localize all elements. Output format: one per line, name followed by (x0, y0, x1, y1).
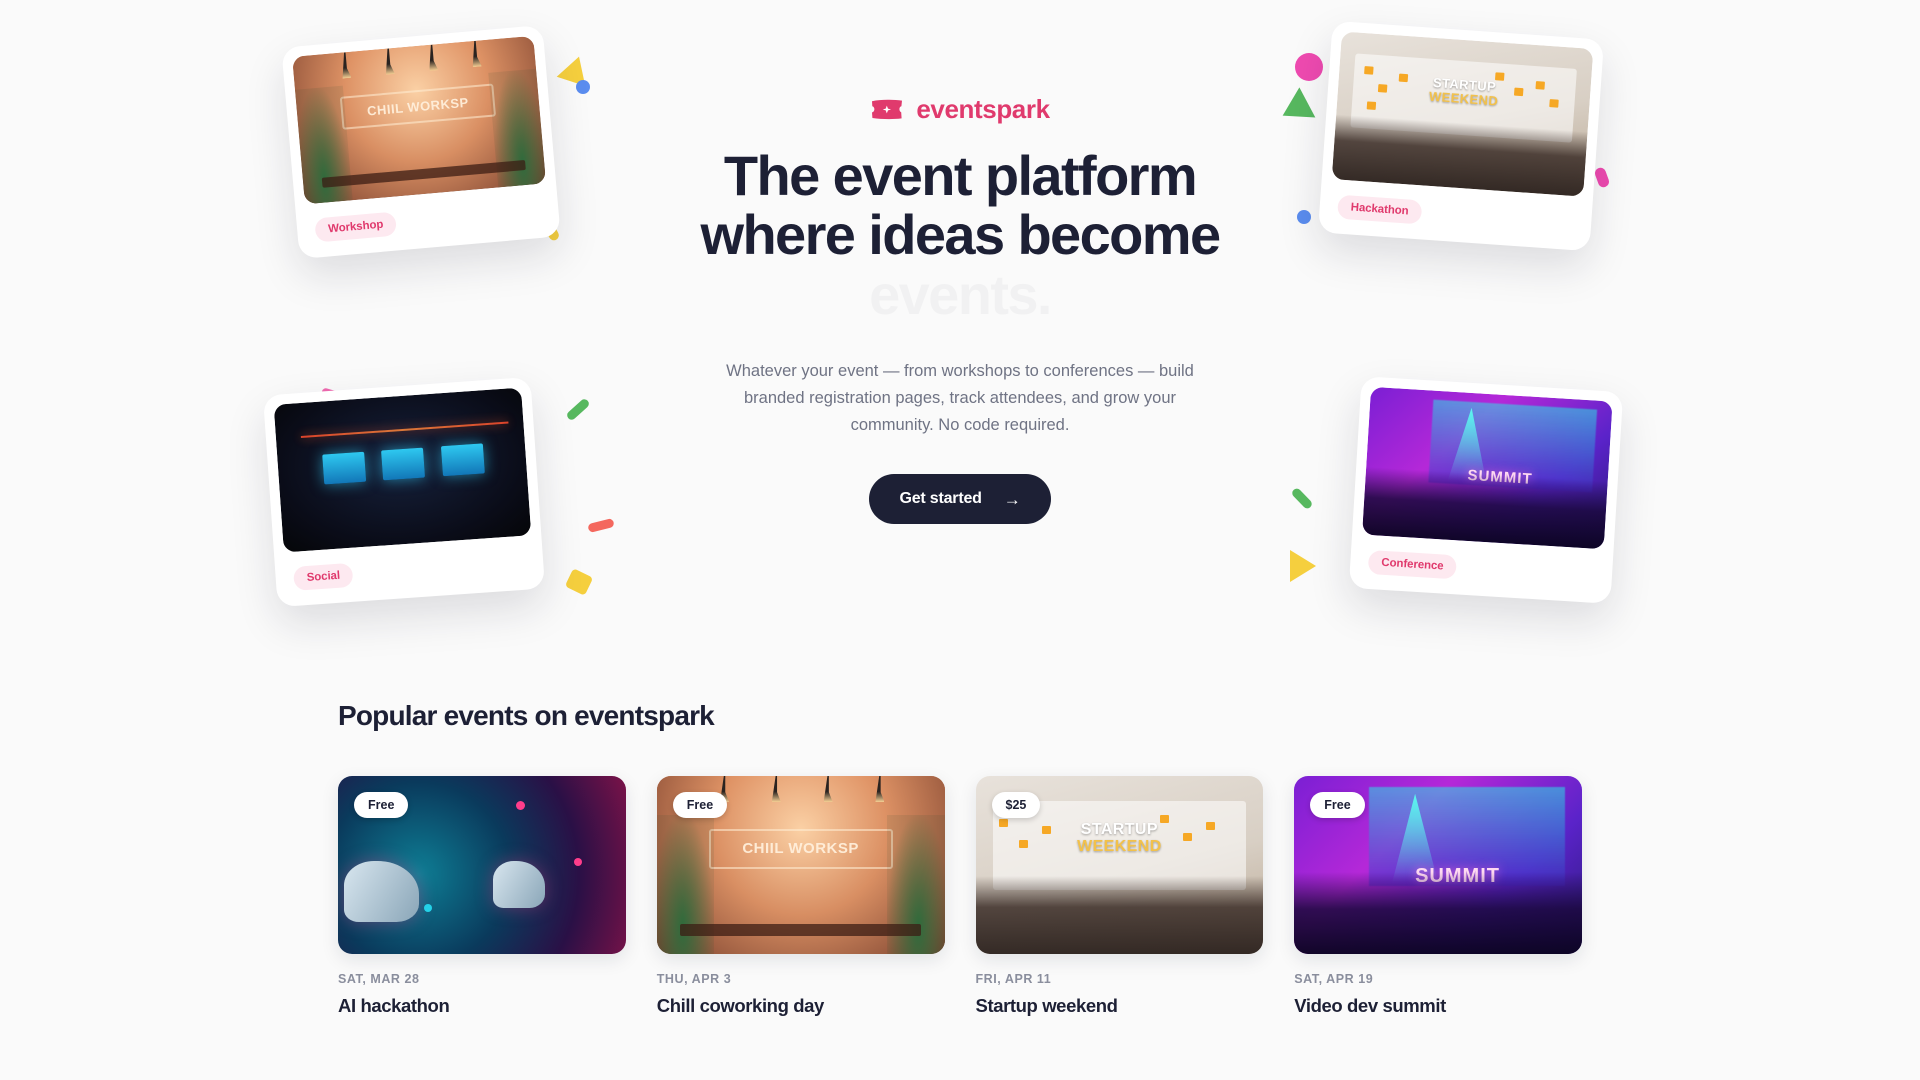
headline-line-3: events. (640, 265, 1280, 324)
event-date: SAT, APR 19 (1294, 972, 1582, 986)
decor-dot-blue-top-left (576, 80, 590, 94)
card-tag-workshop: Workshop (314, 212, 397, 243)
get-started-button[interactable]: Get started → (869, 474, 1050, 524)
event-name: Video dev summit (1294, 995, 1582, 1017)
page-title: The event platform where ideas become ev… (640, 146, 1280, 324)
card-tag-social: Social (293, 563, 354, 591)
hero-section: CHIIL WORKSP Workshop STARTUP (0, 0, 1920, 700)
get-started-label: Get started (899, 490, 981, 508)
floating-card-social[interactable]: Social (263, 377, 545, 607)
card-tag-hackathon: Hackathon (1337, 195, 1422, 225)
event-price-badge: Free (1310, 792, 1364, 818)
floating-card-hackathon[interactable]: STARTUP WEEKEND Hackathon (1318, 21, 1604, 251)
event-date: SAT, MAR 28 (338, 972, 626, 986)
floating-card-conference[interactable]: SUMMIT Conference (1349, 376, 1623, 604)
workshop-photo: CHIIL WORKSP (292, 36, 546, 205)
popular-events-section: Popular events on eventspark Free SAT, M… (0, 700, 1920, 1017)
decor-dot-magenta-top-right (1295, 53, 1323, 81)
decor-triangle-yellow-right-mid (1290, 550, 1316, 582)
headline-line-2: where ideas become (640, 205, 1280, 264)
event-price-badge: Free (673, 792, 727, 818)
event-price-badge: $25 (992, 792, 1041, 818)
card-tag-conference: Conference (1368, 550, 1458, 579)
decor-triangle-green-top-right (1275, 87, 1316, 130)
decor-bar-magenta-right (1593, 166, 1610, 189)
workshop-wall-sign: CHIIL WORKSP (339, 84, 496, 130)
floating-card-workshop[interactable]: CHIIL WORKSP Workshop (281, 25, 560, 259)
event-date: THU, APR 3 (657, 972, 945, 986)
brand-name: eventspark (916, 96, 1049, 122)
event-name: Chill coworking day (657, 995, 945, 1017)
decor-bar-coral-center-left (587, 518, 614, 533)
event-card[interactable]: STARTUPWEEKEND $25 FRI, APR 11 Startup w… (976, 776, 1264, 1017)
event-thumbnail: SUMMIT Free (1294, 776, 1582, 954)
event-thumbnail: CHIIL WORKSP Free (657, 776, 945, 954)
decor-dot-blue-right (1297, 210, 1311, 224)
social-photo (274, 388, 532, 553)
event-price-badge: Free (354, 792, 408, 818)
arrow-right-icon: → (1004, 491, 1021, 508)
headline-line-1: The event platform (640, 146, 1280, 205)
event-name: Startup weekend (976, 995, 1264, 1017)
hero-subtitle: Whatever your event — from workshops to … (710, 358, 1210, 438)
event-card[interactable]: SUMMIT Free SAT, APR 19 Video dev summit (1294, 776, 1582, 1017)
decor-bar-green-center-left (565, 397, 590, 421)
event-thumbnail: Free (338, 776, 626, 954)
event-card[interactable]: CHIIL WORKSP Free THU, APR 3 Chill cowor… (657, 776, 945, 1017)
event-name: AI hackathon (338, 995, 626, 1017)
event-date: FRI, APR 11 (976, 972, 1264, 986)
conference-photo: SUMMIT (1362, 387, 1613, 549)
events-grid: Free SAT, MAR 28 AI hackathon CHIIL WORK… (338, 776, 1582, 1017)
decor-triangle-yellow-top-left (557, 52, 594, 86)
brand-logo: eventspark (640, 96, 1280, 122)
hackathon-photo: STARTUP WEEKEND (1332, 31, 1594, 196)
event-card[interactable]: Free SAT, MAR 28 AI hackathon (338, 776, 626, 1017)
decor-bar-yellow-center-left (565, 568, 594, 596)
decor-bar-green-center-right (1290, 487, 1313, 511)
section-title: Popular events on eventspark (338, 700, 1582, 732)
hero-content: eventspark The event platform where idea… (640, 96, 1280, 524)
ticket-sparkle-icon (870, 98, 904, 121)
event-thumbnail: STARTUPWEEKEND $25 (976, 776, 1264, 954)
landing-page: CHIIL WORKSP Workshop STARTUP (0, 0, 1920, 1080)
